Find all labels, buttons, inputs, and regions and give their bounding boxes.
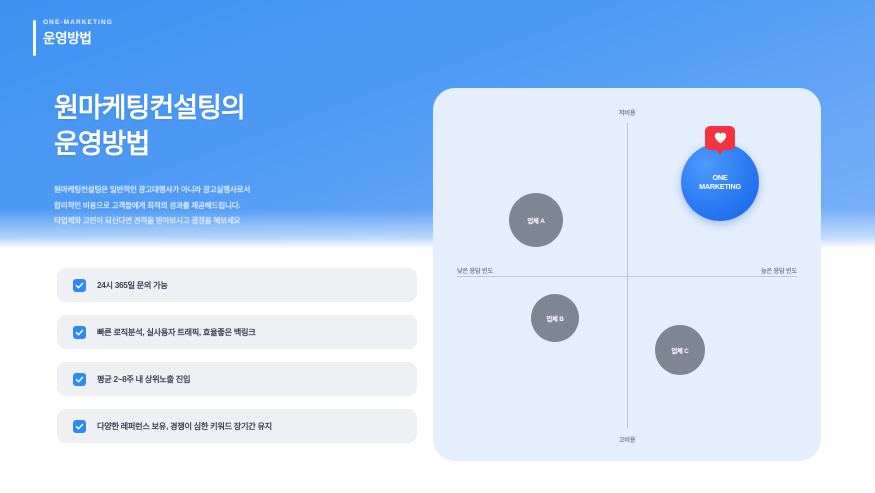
chart-horizontal-axis xyxy=(457,276,797,277)
positioning-quadrant-chart: 저비용 고비용 낮은 응답 빈도 높은 응답 빈도 업체 A 업체 B 업체 C… xyxy=(433,88,821,461)
bubble-line-2: MARKETING xyxy=(699,182,741,192)
data-point-competitor-a: 업체 A xyxy=(509,193,563,247)
data-point-competitor-c: 업체 C xyxy=(655,325,705,375)
list-item-label: 24시 365일 문의 가능 xyxy=(97,279,168,291)
axis-label-left: 낮은 응답 빈도 xyxy=(457,266,493,275)
feature-checklist: 24시 365일 문의 가능 빠른 로직분석, 실사용자 트래픽, 효율좋은 백… xyxy=(57,268,417,456)
check-icon xyxy=(73,373,86,386)
list-item[interactable]: 24시 365일 문의 가능 xyxy=(57,268,417,302)
list-item[interactable]: 평균 2~8주 내 상위노출 진입 xyxy=(57,362,417,396)
check-icon xyxy=(73,279,86,292)
brand-logo: ONE-MARKETING 운영방법 xyxy=(33,18,113,48)
list-item-label: 빠른 로직분석, 실사용자 트래픽, 효율좋은 백링크 xyxy=(97,326,255,338)
axis-label-bottom: 고비용 xyxy=(433,435,821,444)
headline-line-1: 원마케팅컨설팅의 xyxy=(54,90,245,126)
check-icon xyxy=(73,326,86,339)
page-title: 원마케팅컨설팅의 운영방법 xyxy=(54,90,245,162)
brand-kicker: ONE-MARKETING xyxy=(43,18,113,27)
lede-line-2: 합리적인 비용으로 고객들에게 최적의 성과를 제공해드립니다. xyxy=(54,198,384,214)
lede-line-3: 타업체와 고민이 되신다면 견적을 받아보시고 결정을 해보세요 xyxy=(54,213,384,229)
hero-description: 원마케팅컨설팅은 일반적인 광고대행사가 아니라 광고실행사로서 합리적인 비용… xyxy=(54,182,384,229)
list-item[interactable]: 빠른 로직분석, 실사용자 트래픽, 효율좋은 백링크 xyxy=(57,315,417,349)
list-item-label: 다양한 레퍼런스 보유, 경쟁이 심한 키워드 장기간 유지 xyxy=(97,420,272,432)
bubble-line-1: ONE xyxy=(699,173,741,183)
heart-icon xyxy=(705,126,735,150)
axis-label-top: 저비용 xyxy=(433,108,821,117)
list-item-label: 평균 2~8주 내 상위노출 진입 xyxy=(97,373,190,385)
slide-canvas: ONE-MARKETING 운영방법 원마케팅컨설팅의 운영방법 원마케팅컨설팅… xyxy=(0,0,875,493)
headline-line-2: 운영방법 xyxy=(54,126,245,162)
brand-name: 운영방법 xyxy=(43,30,113,48)
check-icon xyxy=(73,420,86,433)
data-point-competitor-b: 업체 B xyxy=(531,294,579,342)
lede-line-1: 원마케팅컨설팅은 일반적인 광고대행사가 아니라 광고실행사로서 xyxy=(54,182,384,198)
list-item[interactable]: 다양한 레퍼런스 보유, 경쟁이 심한 키워드 장기간 유지 xyxy=(57,409,417,443)
axis-label-right: 높은 응답 빈도 xyxy=(761,266,797,275)
